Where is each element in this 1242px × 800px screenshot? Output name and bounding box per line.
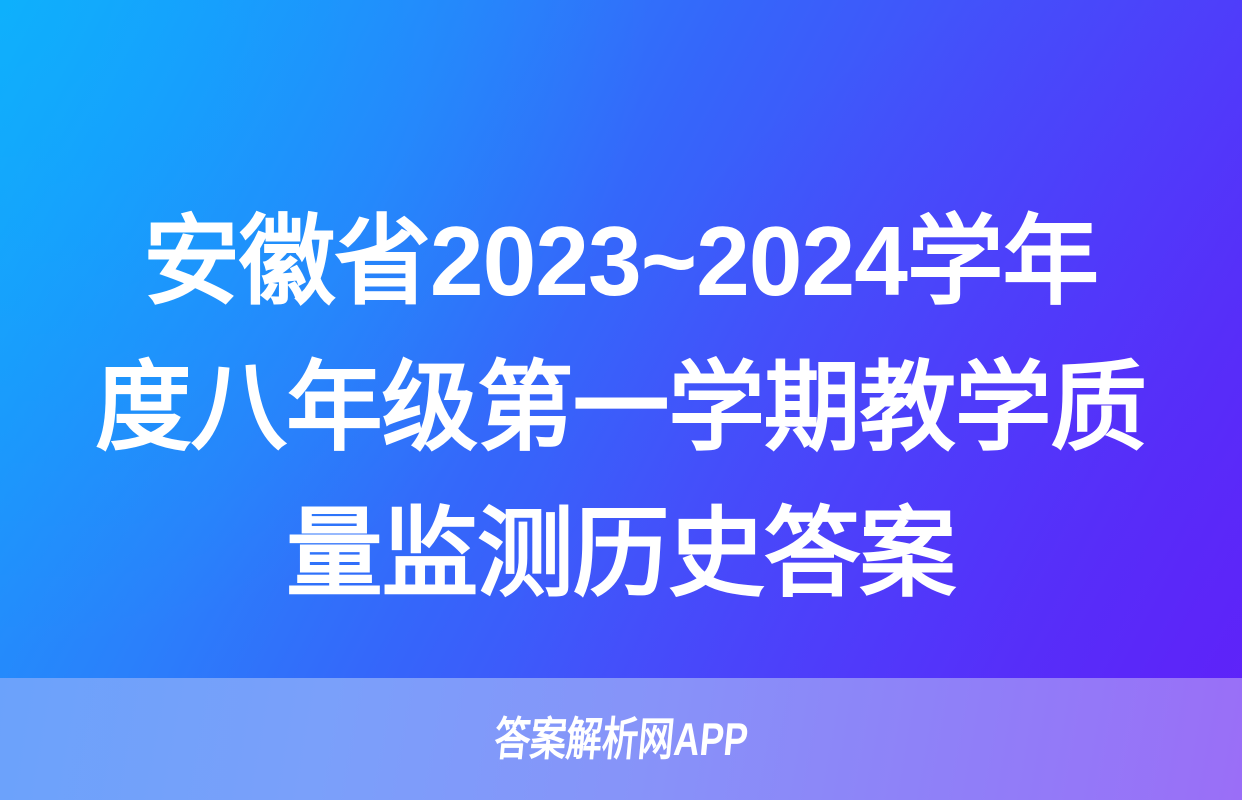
title-line-1: 安徽省2023~2024学年: [144, 188, 1099, 334]
page-title: 安徽省2023~2024学年 度八年级第一学期教学质 量监测历史答案: [0, 188, 1242, 626]
hero-gradient-background: 安徽省2023~2024学年 度八年级第一学期教学质 量监测历史答案: [0, 0, 1242, 678]
title-line-2: 度八年级第一学期教学质: [95, 334, 1146, 480]
app-watermark-label: 答案解析网APP: [492, 716, 750, 762]
answer-card: 安徽省2023~2024学年 度八年级第一学期教学质 量监测历史答案 答案解析网…: [0, 0, 1242, 800]
footer-watermark-band: 答案解析网APP: [0, 678, 1242, 800]
title-line-3: 量监测历史答案: [287, 480, 956, 626]
